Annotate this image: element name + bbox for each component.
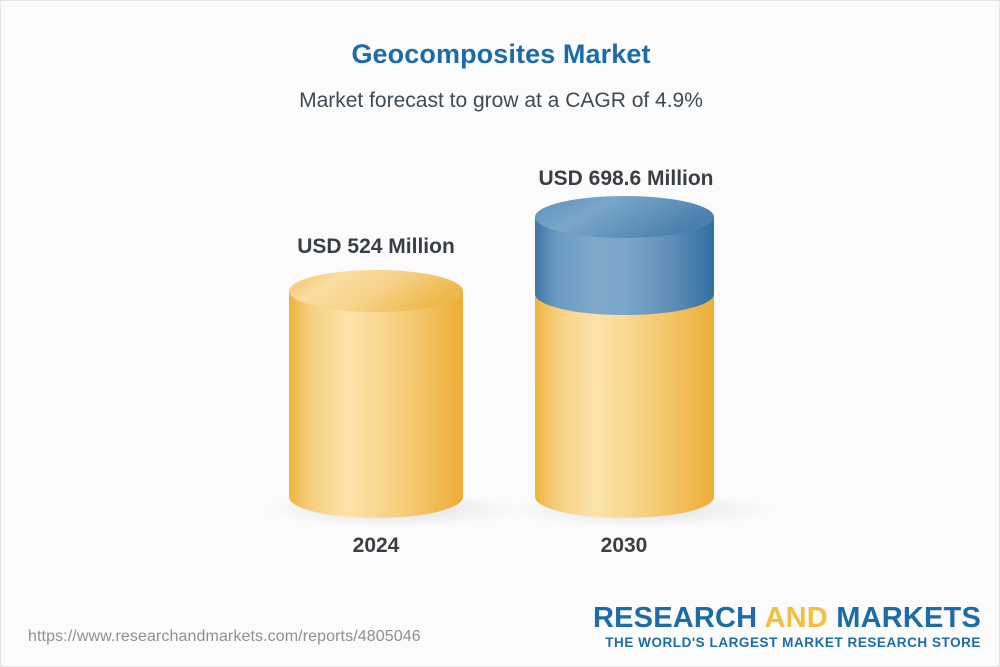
logo-word-markets: MARKETS [828, 602, 981, 634]
source-url[interactable]: https://www.researchandmarkets.com/repor… [28, 628, 421, 646]
logo-word-research: RESEARCH [593, 602, 765, 634]
value-label-2030: USD 698.6 Million [501, 167, 751, 191]
logo-wordmark: RESEARCH AND MARKETS [593, 603, 981, 633]
bar-2030 [535, 196, 714, 518]
research-and-markets-logo: RESEARCH AND MARKETS THE WORLD'S LARGEST… [593, 603, 981, 650]
category-label-2030: 2030 [544, 534, 704, 558]
logo-tagline: THE WORLD'S LARGEST MARKET RESEARCH STOR… [593, 635, 981, 650]
value-label-2024: USD 524 Million [256, 235, 496, 259]
bar-2024 [289, 270, 463, 518]
chart-canvas: Geocomposites Market Market forecast to … [0, 0, 1000, 667]
logo-word-and: AND [765, 602, 828, 634]
category-label-2024: 2024 [296, 534, 456, 558]
cylinder-bar-chart [1, 1, 1000, 667]
